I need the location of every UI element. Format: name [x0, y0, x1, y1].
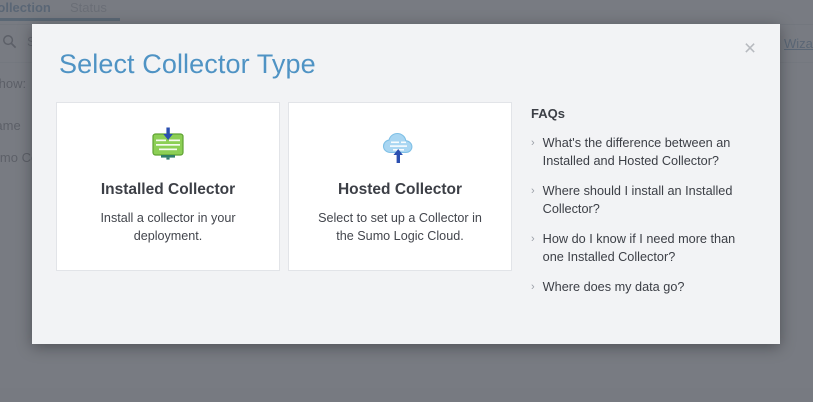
- hosted-collector-title: Hosted Collector: [338, 181, 462, 199]
- faq-item-label: What's the difference between an Install…: [543, 135, 753, 170]
- chevron-right-icon: ›: [531, 135, 535, 152]
- installed-collector-title: Installed Collector: [101, 181, 235, 199]
- hosted-collector-cloud-icon: [378, 125, 422, 169]
- dialog-title: Select Collector Type: [59, 49, 316, 80]
- installed-collector-monitor-icon: [146, 125, 190, 169]
- dialog-body: Installed Collector Install a collector …: [56, 102, 762, 328]
- faq-item[interactable]: › Where should I install an Installed Co…: [531, 183, 753, 218]
- faq-panel: FAQs › What's the difference between an …: [531, 102, 753, 310]
- faq-item-label: How do I know if I need more than one In…: [543, 231, 753, 266]
- faq-item-label: Where should I install an Installed Coll…: [543, 183, 753, 218]
- faq-item[interactable]: › What's the difference between an Insta…: [531, 135, 753, 170]
- installed-collector-card[interactable]: Installed Collector Install a collector …: [56, 102, 280, 271]
- close-icon[interactable]: ×: [736, 34, 764, 62]
- select-collector-type-dialog: × Select Collector Type: [32, 24, 780, 344]
- chevron-right-icon: ›: [531, 279, 535, 296]
- hosted-collector-description: Select to set up a Collector in the Sumo…: [314, 210, 486, 246]
- collector-type-cards: Installed Collector Install a collector …: [56, 102, 512, 271]
- installed-collector-description: Install a collector in your deployment.: [82, 210, 254, 246]
- chevron-right-icon: ›: [531, 231, 535, 248]
- faq-item-label: Where does my data go?: [543, 279, 685, 297]
- hosted-collector-card[interactable]: Hosted Collector Select to set up a Coll…: [288, 102, 512, 271]
- faq-heading: FAQs: [531, 106, 753, 121]
- faq-item[interactable]: › Where does my data go?: [531, 279, 753, 297]
- faq-item[interactable]: › How do I know if I need more than one …: [531, 231, 753, 266]
- chevron-right-icon: ›: [531, 183, 535, 200]
